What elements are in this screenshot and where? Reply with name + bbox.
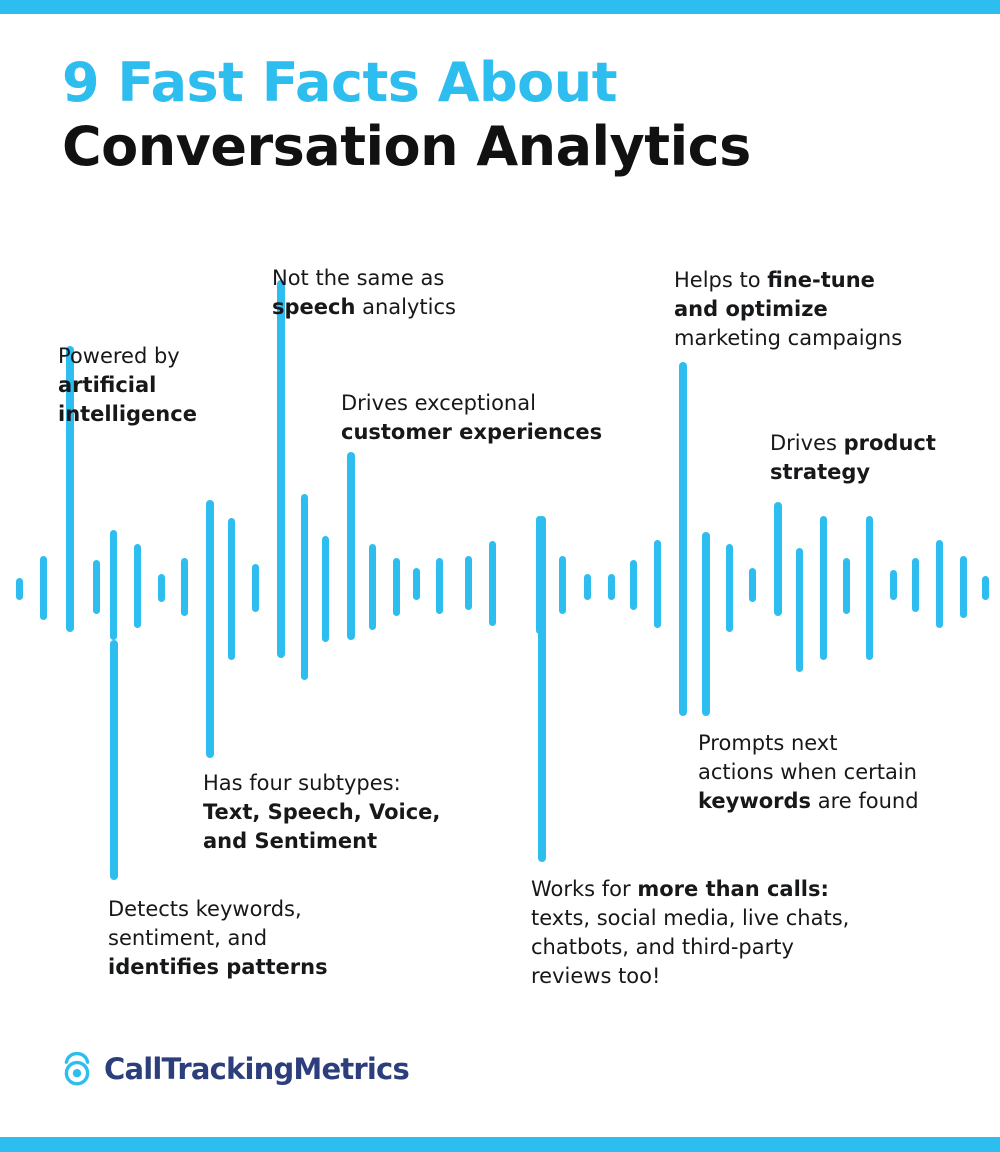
- logo-wordmark: CallTrackingMetrics: [104, 1052, 409, 1086]
- fact-line: Drives product: [770, 429, 970, 458]
- waveform-bar-18: [413, 568, 420, 600]
- fact-line: and Sentiment: [203, 827, 468, 856]
- fact-text-emphasis: fine-tune: [767, 268, 875, 292]
- fact-fine-tune-optimize: Helps to fine-tuneand optimizemarketing …: [674, 266, 959, 353]
- waveform-bar-13: [301, 494, 308, 680]
- headline-line-1: 9 Fast Facts About: [62, 52, 942, 114]
- calltrackingmetrics-logo[interactable]: CallTrackingMetrics: [60, 1052, 409, 1086]
- waveform-bar-26: [608, 574, 615, 600]
- fact-text-emphasis: and optimize: [674, 297, 828, 321]
- fact-line: actions when certain: [698, 758, 968, 787]
- waveform-callout-bar-prompts-next-actions: [702, 532, 710, 716]
- infographic-page: 9 Fast Facts About Conversation Analytic…: [0, 0, 1000, 1152]
- waveform-callout-bar-more-than-calls: [538, 516, 546, 862]
- waveform-callout-bar-not-speech-analytics: [277, 280, 285, 658]
- fact-text-emphasis: product: [844, 431, 936, 455]
- fact-line: marketing campaigns: [674, 324, 959, 353]
- fact-text-emphasis: strategy: [770, 460, 870, 484]
- fact-identifies-patterns: Detects keywords,sentiment, andidentifie…: [108, 895, 363, 982]
- waveform-bar-0: [16, 578, 23, 600]
- fact-text: are found: [811, 789, 919, 813]
- waveform-bar-27: [630, 560, 637, 610]
- fact-line: Prompts next: [698, 729, 968, 758]
- fact-four-subtypes: Has four subtypes:Text, Speech, Voice,an…: [203, 769, 468, 856]
- waveform-bar-42: [982, 576, 989, 600]
- waveform-callout-bar-customer-experiences: [347, 452, 355, 640]
- fact-text: Drives: [770, 431, 844, 455]
- fact-text-emphasis: and Sentiment: [203, 829, 377, 853]
- fact-line: texts, social media, live chats,: [531, 904, 901, 933]
- waveform-bar-39: [912, 558, 919, 612]
- fact-prompts-next-actions: Prompts nextactions when certainkeywords…: [698, 729, 968, 816]
- fact-text: Works for: [531, 877, 637, 901]
- waveform-bar-7: [158, 574, 165, 602]
- fact-not-speech-analytics: Not the same asspeech analytics: [272, 264, 522, 322]
- fact-line: speech analytics: [272, 293, 522, 322]
- fact-line: strategy: [770, 458, 970, 487]
- fact-text-emphasis: Text, Speech, Voice,: [203, 800, 440, 824]
- fact-text: analytics: [355, 295, 456, 319]
- fact-text: chatbots, and third-party: [531, 935, 794, 959]
- fact-line: intelligence: [58, 400, 268, 429]
- waveform-bar-37: [866, 516, 873, 660]
- fact-text: marketing campaigns: [674, 326, 902, 350]
- waveform-bar-35: [820, 516, 827, 660]
- fact-text: Prompts next: [698, 731, 837, 755]
- fact-text-emphasis: artificial: [58, 373, 156, 397]
- waveform-bar-41: [960, 556, 967, 618]
- fact-product-strategy: Drives productstrategy: [770, 429, 970, 487]
- fact-line: Powered by: [58, 342, 268, 371]
- fact-text: Drives exceptional: [341, 391, 536, 415]
- waveform-bar-3: [93, 560, 100, 614]
- top-accent-rule: [0, 0, 1000, 14]
- fact-line: Detects keywords,: [108, 895, 363, 924]
- bottom-accent-rule: [0, 1137, 1000, 1152]
- fact-line: Helps to fine-tune: [674, 266, 959, 295]
- fact-text: actions when certain: [698, 760, 917, 784]
- waveform-bar-24: [559, 556, 566, 614]
- fact-text-emphasis: customer experiences: [341, 420, 602, 444]
- waveform-bar-6: [134, 544, 141, 628]
- fact-line: Works for more than calls:: [531, 875, 901, 904]
- fact-line: and optimize: [674, 295, 959, 324]
- fact-text: Detects keywords,: [108, 897, 302, 921]
- waveform-bar-34: [796, 548, 803, 672]
- waveform-bar-19: [436, 558, 443, 614]
- fact-text-emphasis: identifies patterns: [108, 955, 328, 979]
- waveform-bar-31: [726, 544, 733, 632]
- fact-powered-by-ai: Powered byartificialintelligence: [58, 342, 268, 429]
- fact-text: Powered by: [58, 344, 180, 368]
- waveform-bar-10: [228, 518, 235, 660]
- fact-text-emphasis: speech: [272, 295, 355, 319]
- waveform-bar-38: [890, 570, 897, 600]
- waveform-bar-21: [489, 541, 496, 626]
- waveform-bar-22: [536, 516, 543, 634]
- fact-line: chatbots, and third-party: [531, 933, 901, 962]
- waveform-bar-14: [322, 536, 329, 642]
- fact-text: texts, social media, live chats,: [531, 906, 849, 930]
- waveform-callout-bar-four-subtypes: [206, 500, 214, 758]
- waveform-bar-8: [181, 558, 188, 616]
- fact-line: customer experiences: [341, 418, 641, 447]
- waveform-bar-36: [843, 558, 850, 614]
- waveform-bar-40: [936, 540, 943, 628]
- waveform-callout-bar-product-strategy: [774, 502, 782, 616]
- fact-line: reviews too!: [531, 962, 901, 991]
- waveform-bar-28: [654, 540, 661, 628]
- fact-text: Not the same as: [272, 266, 444, 290]
- page-title: 9 Fast Facts About Conversation Analytic…: [62, 52, 942, 180]
- fact-line: identifies patterns: [108, 953, 363, 982]
- waveform-bar-17: [393, 558, 400, 616]
- fact-line: Drives exceptional: [341, 389, 641, 418]
- fact-customer-experiences: Drives exceptionalcustomer experiences: [341, 389, 641, 447]
- waveform-bar-1: [40, 556, 47, 620]
- fact-text-emphasis: more than calls:: [637, 877, 829, 901]
- fact-text: Helps to: [674, 268, 767, 292]
- fact-line: sentiment, and: [108, 924, 363, 953]
- waveform-bar-11: [252, 564, 259, 612]
- waveform-callout-bar-identifies-patterns: [110, 640, 118, 880]
- waveform-bar-32: [749, 568, 756, 602]
- fact-text-emphasis: keywords: [698, 789, 811, 813]
- fact-text-emphasis: intelligence: [58, 402, 197, 426]
- waveform-bar-4: [110, 530, 117, 640]
- fact-line: Not the same as: [272, 264, 522, 293]
- waveform-bar-16: [369, 544, 376, 630]
- fact-text: sentiment, and: [108, 926, 267, 950]
- fact-text: Has four subtypes:: [203, 771, 401, 795]
- waveform-bar-20: [465, 556, 472, 610]
- fact-line: Has four subtypes:: [203, 769, 468, 798]
- waveform-callout-bar-fine-tune-optimize: [679, 362, 687, 716]
- waveform-bar-25: [584, 574, 591, 600]
- fact-line: artificial: [58, 371, 268, 400]
- headline-line-2: Conversation Analytics: [62, 114, 942, 180]
- calltrackingmetrics-logo-icon: [60, 1052, 94, 1086]
- fact-more-than-calls: Works for more than calls:texts, social …: [531, 875, 901, 991]
- fact-line: Text, Speech, Voice,: [203, 798, 468, 827]
- fact-line: keywords are found: [698, 787, 968, 816]
- fact-text: reviews too!: [531, 964, 660, 988]
